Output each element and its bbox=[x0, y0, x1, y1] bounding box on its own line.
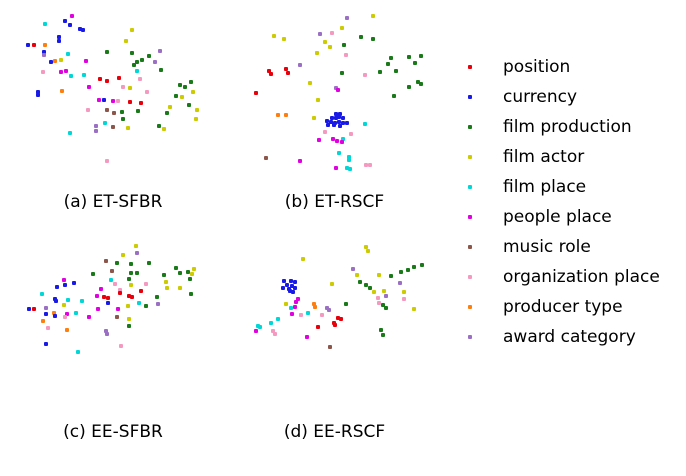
data-point bbox=[105, 108, 109, 112]
data-point bbox=[86, 108, 90, 112]
data-point bbox=[317, 138, 321, 142]
data-point bbox=[135, 271, 139, 275]
data-point bbox=[59, 58, 63, 62]
data-point bbox=[103, 121, 107, 125]
data-point bbox=[269, 321, 273, 325]
data-point bbox=[386, 62, 390, 66]
data-point bbox=[328, 345, 332, 349]
data-point bbox=[323, 130, 327, 134]
data-point bbox=[402, 290, 406, 294]
legend-item-film-production[interactable]: film production bbox=[455, 112, 680, 142]
data-point bbox=[147, 54, 151, 58]
data-point bbox=[195, 108, 199, 112]
data-point bbox=[46, 326, 50, 330]
data-point bbox=[276, 113, 280, 117]
data-point bbox=[110, 269, 114, 273]
data-point bbox=[291, 290, 295, 294]
data-point bbox=[126, 126, 130, 130]
data-point bbox=[147, 261, 151, 265]
data-point bbox=[81, 28, 85, 32]
data-point bbox=[130, 28, 134, 32]
data-point bbox=[378, 70, 382, 74]
legend-marker-icon bbox=[468, 125, 472, 129]
data-point bbox=[59, 70, 63, 74]
data-point bbox=[165, 111, 169, 115]
legend-marker-icon bbox=[468, 155, 472, 159]
data-point bbox=[419, 54, 423, 58]
data-point bbox=[382, 289, 386, 293]
data-point bbox=[95, 294, 99, 298]
data-point bbox=[264, 156, 268, 160]
scatter-panel-b bbox=[232, 6, 437, 186]
legend-marker-wrap bbox=[455, 305, 503, 309]
scatter-points-d bbox=[232, 236, 437, 416]
data-point bbox=[36, 93, 40, 97]
data-point bbox=[190, 272, 194, 276]
data-point bbox=[65, 328, 69, 332]
data-point bbox=[91, 272, 95, 276]
legend-label: music role bbox=[503, 237, 591, 257]
data-point bbox=[326, 123, 330, 127]
data-point bbox=[128, 100, 132, 104]
panel-caption-b: (b) ET-RSCF bbox=[232, 192, 437, 212]
legend-item-producer-type[interactable]: producer type bbox=[455, 292, 680, 322]
data-point bbox=[379, 328, 383, 332]
data-point bbox=[76, 350, 80, 354]
data-point bbox=[44, 312, 48, 316]
data-point bbox=[130, 295, 134, 299]
panel-caption-a: (a) ET-SFBR bbox=[8, 192, 218, 212]
data-point bbox=[116, 307, 120, 311]
data-point bbox=[44, 306, 48, 310]
data-point bbox=[128, 86, 132, 90]
data-point bbox=[376, 296, 380, 300]
data-point bbox=[298, 63, 302, 67]
data-point bbox=[298, 159, 302, 163]
data-point bbox=[355, 273, 359, 277]
data-point bbox=[338, 124, 342, 128]
data-point bbox=[158, 49, 162, 53]
data-point bbox=[70, 14, 74, 18]
data-point bbox=[68, 23, 72, 27]
data-point bbox=[406, 268, 410, 272]
data-point bbox=[273, 332, 277, 336]
data-point bbox=[377, 301, 381, 305]
data-point bbox=[138, 77, 142, 81]
legend-label: film actor bbox=[503, 147, 584, 167]
legend-marker-wrap bbox=[455, 185, 503, 189]
data-point bbox=[112, 111, 116, 115]
legend-marker-icon bbox=[468, 245, 472, 249]
data-point bbox=[363, 122, 367, 126]
data-point bbox=[41, 70, 45, 74]
data-point bbox=[194, 117, 198, 121]
legend-item-currency[interactable]: currency bbox=[455, 82, 680, 112]
data-point bbox=[306, 311, 310, 315]
data-point bbox=[290, 312, 294, 316]
data-point bbox=[180, 95, 184, 99]
data-point bbox=[282, 37, 286, 41]
data-point bbox=[137, 301, 141, 305]
data-point bbox=[124, 39, 128, 43]
data-point bbox=[66, 298, 70, 302]
data-point bbox=[340, 140, 344, 144]
data-point bbox=[335, 139, 339, 143]
data-point bbox=[299, 313, 303, 317]
data-point bbox=[281, 286, 285, 290]
legend-label: currency bbox=[503, 87, 577, 107]
data-point bbox=[139, 101, 143, 105]
data-point bbox=[178, 271, 182, 275]
data-point bbox=[312, 116, 316, 120]
data-point bbox=[121, 85, 125, 89]
legend-marker-icon bbox=[468, 65, 472, 69]
data-point bbox=[272, 34, 276, 38]
data-point bbox=[74, 311, 78, 315]
data-point bbox=[80, 299, 84, 303]
data-point bbox=[155, 295, 159, 299]
data-point bbox=[342, 43, 346, 47]
data-point bbox=[286, 71, 290, 75]
data-point bbox=[117, 76, 121, 80]
data-point bbox=[371, 37, 375, 41]
scatter-points-c bbox=[8, 236, 218, 416]
data-point bbox=[305, 335, 309, 339]
legend-item-music-role[interactable]: music role bbox=[455, 232, 680, 262]
data-point bbox=[115, 261, 119, 265]
data-point bbox=[348, 167, 352, 171]
scatter-points-a bbox=[8, 6, 218, 186]
data-point bbox=[106, 296, 110, 300]
data-point bbox=[105, 50, 109, 54]
data-point bbox=[135, 69, 139, 73]
scatter-figure: (a) ET-SFBR(b) ET-RSCF(c) EE-SFBR(d) EE-… bbox=[0, 0, 686, 476]
data-point bbox=[178, 286, 182, 290]
panel-caption-d: (d) EE-RSCF bbox=[232, 422, 437, 442]
data-point bbox=[55, 285, 59, 289]
legend: positioncurrencyfilm productionfilm acto… bbox=[455, 52, 680, 352]
data-point bbox=[392, 94, 396, 98]
data-point bbox=[62, 303, 66, 307]
data-point bbox=[127, 317, 131, 321]
data-point bbox=[57, 39, 61, 43]
data-point bbox=[121, 253, 125, 257]
data-point bbox=[371, 14, 375, 18]
data-point bbox=[102, 295, 106, 299]
data-point bbox=[368, 163, 372, 167]
data-point bbox=[168, 105, 172, 109]
data-point bbox=[87, 315, 91, 319]
data-point bbox=[164, 280, 168, 284]
data-point bbox=[389, 56, 393, 60]
data-point bbox=[134, 244, 138, 248]
data-point bbox=[43, 22, 47, 26]
legend-marker-icon bbox=[468, 185, 472, 189]
data-point bbox=[63, 283, 67, 287]
data-point bbox=[394, 69, 398, 73]
data-point bbox=[162, 273, 166, 277]
data-point bbox=[340, 26, 344, 30]
data-point bbox=[308, 81, 312, 85]
data-point bbox=[313, 305, 317, 309]
data-point bbox=[96, 307, 100, 311]
data-point bbox=[189, 80, 193, 84]
legend-marker-icon bbox=[468, 95, 472, 99]
data-point bbox=[129, 271, 133, 275]
data-point bbox=[129, 283, 133, 287]
data-point bbox=[94, 124, 98, 128]
data-point bbox=[407, 55, 411, 59]
data-point bbox=[377, 273, 381, 277]
data-point bbox=[105, 159, 109, 163]
data-point bbox=[144, 304, 148, 308]
data-point bbox=[191, 90, 195, 94]
legend-marker-icon bbox=[468, 335, 472, 339]
data-point bbox=[420, 263, 424, 267]
data-point bbox=[334, 166, 338, 170]
legend-marker-icon bbox=[468, 215, 472, 219]
data-point bbox=[316, 98, 320, 102]
data-point bbox=[178, 83, 182, 87]
data-point bbox=[344, 302, 348, 306]
data-point bbox=[98, 77, 102, 81]
data-point bbox=[64, 69, 68, 73]
data-point bbox=[99, 287, 103, 291]
legend-marker-wrap bbox=[455, 335, 503, 339]
data-point bbox=[162, 127, 166, 131]
data-point bbox=[336, 88, 340, 92]
data-point bbox=[87, 85, 91, 89]
data-point bbox=[40, 292, 44, 296]
data-point bbox=[363, 73, 367, 77]
legend-label: film production bbox=[503, 117, 632, 137]
data-point bbox=[258, 325, 262, 329]
legend-marker-icon bbox=[468, 305, 472, 309]
legend-marker-wrap bbox=[455, 65, 503, 69]
scatter-points-b bbox=[232, 6, 437, 186]
data-point bbox=[43, 43, 47, 47]
data-point bbox=[63, 19, 67, 23]
data-point bbox=[104, 259, 108, 263]
data-point bbox=[145, 90, 149, 94]
data-point bbox=[381, 333, 385, 337]
data-point bbox=[189, 292, 193, 296]
data-point bbox=[105, 332, 109, 336]
legend-label: award category bbox=[503, 327, 636, 347]
legend-label: producer type bbox=[503, 297, 623, 317]
data-point bbox=[113, 282, 117, 286]
data-point bbox=[118, 291, 122, 295]
data-point bbox=[153, 60, 157, 64]
data-point bbox=[42, 53, 46, 57]
data-point bbox=[293, 305, 297, 309]
data-point bbox=[413, 61, 417, 65]
data-point bbox=[366, 249, 370, 253]
data-point bbox=[384, 306, 388, 310]
data-point bbox=[269, 72, 273, 76]
data-point bbox=[359, 35, 363, 39]
data-point bbox=[32, 43, 36, 47]
data-point bbox=[276, 317, 280, 321]
data-point bbox=[316, 325, 320, 329]
data-point bbox=[157, 124, 161, 128]
data-point bbox=[345, 16, 349, 20]
data-point bbox=[332, 123, 336, 127]
data-point bbox=[330, 31, 334, 35]
data-point bbox=[119, 344, 123, 348]
data-point bbox=[341, 116, 345, 120]
data-point bbox=[120, 110, 124, 114]
data-point bbox=[337, 151, 341, 155]
data-point bbox=[165, 286, 169, 290]
data-point bbox=[94, 129, 98, 133]
scatter-panel-a bbox=[8, 6, 218, 186]
data-point bbox=[347, 158, 351, 162]
data-point bbox=[136, 109, 140, 113]
data-point bbox=[41, 319, 45, 323]
data-point bbox=[192, 267, 196, 271]
data-point bbox=[398, 281, 402, 285]
data-point bbox=[111, 99, 115, 103]
data-point bbox=[84, 59, 88, 63]
data-point bbox=[68, 131, 72, 135]
data-point bbox=[135, 251, 139, 255]
data-point bbox=[344, 53, 348, 57]
data-point bbox=[412, 265, 416, 269]
data-point bbox=[44, 342, 48, 346]
data-point bbox=[60, 89, 64, 93]
panel-caption-c: (c) EE-SFBR bbox=[8, 422, 218, 442]
data-point bbox=[315, 51, 319, 55]
data-point bbox=[188, 277, 192, 281]
data-point bbox=[254, 329, 258, 333]
data-point bbox=[132, 63, 136, 67]
data-point bbox=[407, 85, 411, 89]
data-point bbox=[126, 304, 130, 308]
data-point bbox=[399, 270, 403, 274]
data-point bbox=[333, 323, 337, 327]
data-point bbox=[105, 79, 109, 83]
data-point bbox=[183, 85, 187, 89]
legend-item-award-category[interactable]: award category bbox=[455, 322, 680, 352]
data-point bbox=[294, 300, 298, 304]
data-point bbox=[129, 262, 133, 266]
data-point bbox=[32, 307, 36, 311]
legend-marker-wrap bbox=[455, 275, 503, 279]
data-point bbox=[69, 74, 73, 78]
legend-label: organization place bbox=[503, 267, 660, 287]
data-point bbox=[187, 103, 191, 107]
data-point bbox=[301, 257, 305, 261]
legend-label: film place bbox=[503, 177, 586, 197]
legend-item-position[interactable]: position bbox=[455, 52, 680, 82]
data-point bbox=[412, 307, 416, 311]
data-point bbox=[320, 313, 324, 317]
data-point bbox=[318, 32, 322, 36]
data-point bbox=[127, 277, 131, 281]
data-point bbox=[156, 302, 160, 306]
data-point bbox=[330, 282, 334, 286]
legend-marker-wrap bbox=[455, 215, 503, 219]
data-point bbox=[54, 299, 58, 303]
data-point bbox=[419, 82, 423, 86]
scatter-panel-c bbox=[8, 236, 218, 416]
data-point bbox=[127, 324, 131, 328]
data-point bbox=[106, 301, 110, 305]
data-point bbox=[140, 58, 144, 62]
legend-item-organization-place[interactable]: organization place bbox=[455, 262, 680, 292]
data-point bbox=[115, 315, 119, 319]
data-point bbox=[323, 40, 327, 44]
data-point bbox=[389, 274, 393, 278]
data-point bbox=[53, 314, 57, 318]
data-point bbox=[345, 121, 349, 125]
data-point bbox=[57, 35, 61, 39]
legend-item-film-place[interactable]: film place bbox=[455, 172, 680, 202]
data-point bbox=[116, 99, 120, 103]
data-point bbox=[384, 294, 388, 298]
data-point bbox=[328, 45, 332, 49]
data-point bbox=[102, 98, 106, 102]
data-point bbox=[111, 125, 115, 129]
legend-label: people place bbox=[503, 207, 612, 227]
data-point bbox=[340, 71, 344, 75]
data-point bbox=[66, 52, 70, 56]
data-point bbox=[121, 117, 125, 121]
legend-marker-icon bbox=[468, 275, 472, 279]
data-point bbox=[174, 94, 178, 98]
data-point bbox=[372, 290, 376, 294]
data-point bbox=[402, 297, 406, 301]
legend-label: position bbox=[503, 57, 570, 77]
data-point bbox=[174, 266, 178, 270]
legend-marker-wrap bbox=[455, 155, 503, 159]
data-point bbox=[284, 302, 288, 306]
data-point bbox=[327, 308, 331, 312]
legend-marker-wrap bbox=[455, 95, 503, 99]
data-point bbox=[339, 317, 343, 321]
data-point bbox=[62, 278, 66, 282]
scatter-panel-d bbox=[232, 236, 437, 416]
data-point bbox=[130, 51, 134, 55]
data-point bbox=[72, 281, 76, 285]
data-point bbox=[26, 43, 30, 47]
legend-marker-wrap bbox=[455, 245, 503, 249]
data-point bbox=[53, 59, 57, 63]
data-point bbox=[358, 280, 362, 284]
data-point bbox=[284, 113, 288, 117]
data-point bbox=[63, 315, 67, 319]
data-point bbox=[351, 267, 355, 271]
data-point bbox=[82, 73, 86, 77]
data-point bbox=[27, 307, 31, 311]
data-point bbox=[144, 282, 148, 286]
data-point bbox=[254, 91, 258, 95]
legend-marker-wrap bbox=[455, 125, 503, 129]
data-point bbox=[139, 289, 143, 293]
legend-item-people-place[interactable]: people place bbox=[455, 202, 680, 232]
data-point bbox=[159, 68, 163, 72]
legend-item-film-actor[interactable]: film actor bbox=[455, 142, 680, 172]
data-point bbox=[349, 132, 353, 136]
